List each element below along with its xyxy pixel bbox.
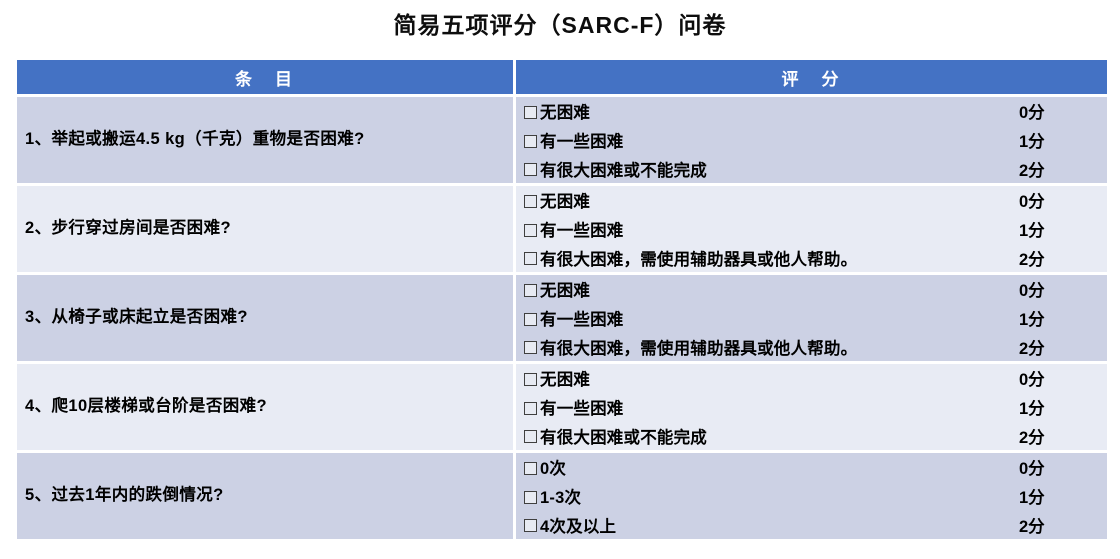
option-row[interactable]: 1-3次1分 [516,482,1107,511]
option-score: 1分 [1009,395,1095,419]
checkbox-icon[interactable] [524,462,537,475]
option-list: 无困难0分有一些困难1分有很大困难或不能完成2分 [516,364,1107,450]
option-label: 有一些困难 [540,395,1009,419]
option-label: 有一些困难 [540,306,1009,330]
option-score: 2分 [1009,246,1095,270]
option-label: 有很大困难或不能完成 [540,424,1009,448]
option-label: 有很大困难，需使用辅助器具或他人帮助。 [540,335,1009,359]
option-row[interactable]: 无困难0分 [516,364,1107,393]
option-label: 无困难 [540,366,1009,390]
option-label: 无困难 [540,188,1009,212]
checkbox-icon[interactable] [524,373,537,386]
question-cell: 1、举起或搬运4.5 kg（千克）重物是否困难? [17,97,513,183]
score-cell: 无困难0分有一些困难1分有很大困难或不能完成2分 [516,97,1107,183]
option-list: 无困难0分有一些困难1分有很大困难，需使用辅助器具或他人帮助。2分 [516,275,1107,361]
page-title: 简易五项评分（SARC-F）问卷 [0,6,1120,40]
table-body: 1、举起或搬运4.5 kg（千克）重物是否困难?无困难0分有一些困难1分有很大困… [17,97,1107,539]
column-header-score: 评 分 [516,60,1107,94]
table-row: 4、爬10层楼梯或台阶是否困难?无困难0分有一些困难1分有很大困难或不能完成2分 [17,364,1107,450]
option-row[interactable]: 有很大困难，需使用辅助器具或他人帮助。2分 [516,243,1107,272]
checkbox-icon[interactable] [524,402,537,415]
checkbox-icon[interactable] [524,284,537,297]
checkbox-icon[interactable] [524,430,537,443]
option-score: 1分 [1009,306,1095,330]
table-header: 条 目 评 分 [17,60,1107,94]
header-row: 条 目 评 分 [17,60,1107,94]
option-score: 1分 [1009,217,1095,241]
option-score: 2分 [1009,157,1095,181]
checkbox-icon[interactable] [524,224,537,237]
option-label: 1-3次 [540,484,1009,508]
checkbox-icon[interactable] [524,106,537,119]
option-score: 1分 [1009,484,1095,508]
option-label: 0次 [540,455,1009,479]
option-score: 2分 [1009,424,1095,448]
question-cell: 3、从椅子或床起立是否困难? [17,275,513,361]
score-cell: 无困难0分有一些困难1分有很大困难，需使用辅助器具或他人帮助。2分 [516,275,1107,361]
option-list: 无困难0分有一些困难1分有很大困难或不能完成2分 [516,97,1107,183]
option-label: 无困难 [540,277,1009,301]
score-cell: 无困难0分有一些困难1分有很大困难或不能完成2分 [516,364,1107,450]
option-label: 有一些困难 [540,128,1009,152]
option-row[interactable]: 无困难0分 [516,275,1107,304]
option-row[interactable]: 有一些困难1分 [516,393,1107,422]
option-row[interactable]: 无困难0分 [516,186,1107,215]
question-cell: 4、爬10层楼梯或台阶是否困难? [17,364,513,450]
option-score: 0分 [1009,99,1095,123]
option-score: 2分 [1009,335,1095,359]
checkbox-icon[interactable] [524,163,537,176]
option-score: 2分 [1009,513,1095,537]
questionnaire-page: 简易五项评分（SARC-F）问卷 条 目 评 分 1、举起或搬运4.5 kg（千… [0,0,1120,559]
option-row[interactable]: 4次及以上2分 [516,510,1107,539]
option-label: 4次及以上 [540,513,1009,537]
sarc-f-table: 条 目 评 分 1、举起或搬运4.5 kg（千克）重物是否困难?无困难0分有一些… [14,57,1110,542]
option-row[interactable]: 有一些困难1分 [516,126,1107,155]
question-cell: 2、步行穿过房间是否困难? [17,186,513,272]
question-cell: 5、过去1年内的跌倒情况? [17,453,513,539]
option-row[interactable]: 有一些困难1分 [516,304,1107,333]
column-header-item: 条 目 [17,60,513,94]
option-score: 0分 [1009,277,1095,301]
option-score: 0分 [1009,188,1095,212]
checkbox-icon[interactable] [524,313,537,326]
option-label: 无困难 [540,99,1009,123]
option-label: 有很大困难，需使用辅助器具或他人帮助。 [540,246,1009,270]
score-cell: 0次0分1-3次1分4次及以上2分 [516,453,1107,539]
option-score: 0分 [1009,366,1095,390]
checkbox-icon[interactable] [524,341,537,354]
option-list: 无困难0分有一些困难1分有很大困难，需使用辅助器具或他人帮助。2分 [516,186,1107,272]
option-label: 有一些困难 [540,217,1009,241]
table-row: 5、过去1年内的跌倒情况?0次0分1-3次1分4次及以上2分 [17,453,1107,539]
table-row: 3、从椅子或床起立是否困难?无困难0分有一些困难1分有很大困难，需使用辅助器具或… [17,275,1107,361]
checkbox-icon[interactable] [524,491,537,504]
option-row[interactable]: 无困难0分 [516,97,1107,126]
table-row: 2、步行穿过房间是否困难?无困难0分有一些困难1分有很大困难，需使用辅助器具或他… [17,186,1107,272]
option-list: 0次0分1-3次1分4次及以上2分 [516,453,1107,539]
option-row[interactable]: 有很大困难，需使用辅助器具或他人帮助。2分 [516,332,1107,361]
checkbox-icon[interactable] [524,252,537,265]
checkbox-icon[interactable] [524,135,537,148]
option-row[interactable]: 有很大困难或不能完成2分 [516,154,1107,183]
score-cell: 无困难0分有一些困难1分有很大困难，需使用辅助器具或他人帮助。2分 [516,186,1107,272]
table-row: 1、举起或搬运4.5 kg（千克）重物是否困难?无困难0分有一些困难1分有很大困… [17,97,1107,183]
checkbox-icon[interactable] [524,519,537,532]
option-row[interactable]: 有很大困难或不能完成2分 [516,421,1107,450]
option-label: 有很大困难或不能完成 [540,157,1009,181]
option-row[interactable]: 0次0分 [516,453,1107,482]
option-score: 0分 [1009,455,1095,479]
checkbox-icon[interactable] [524,195,537,208]
option-score: 1分 [1009,128,1095,152]
option-row[interactable]: 有一些困难1分 [516,215,1107,244]
